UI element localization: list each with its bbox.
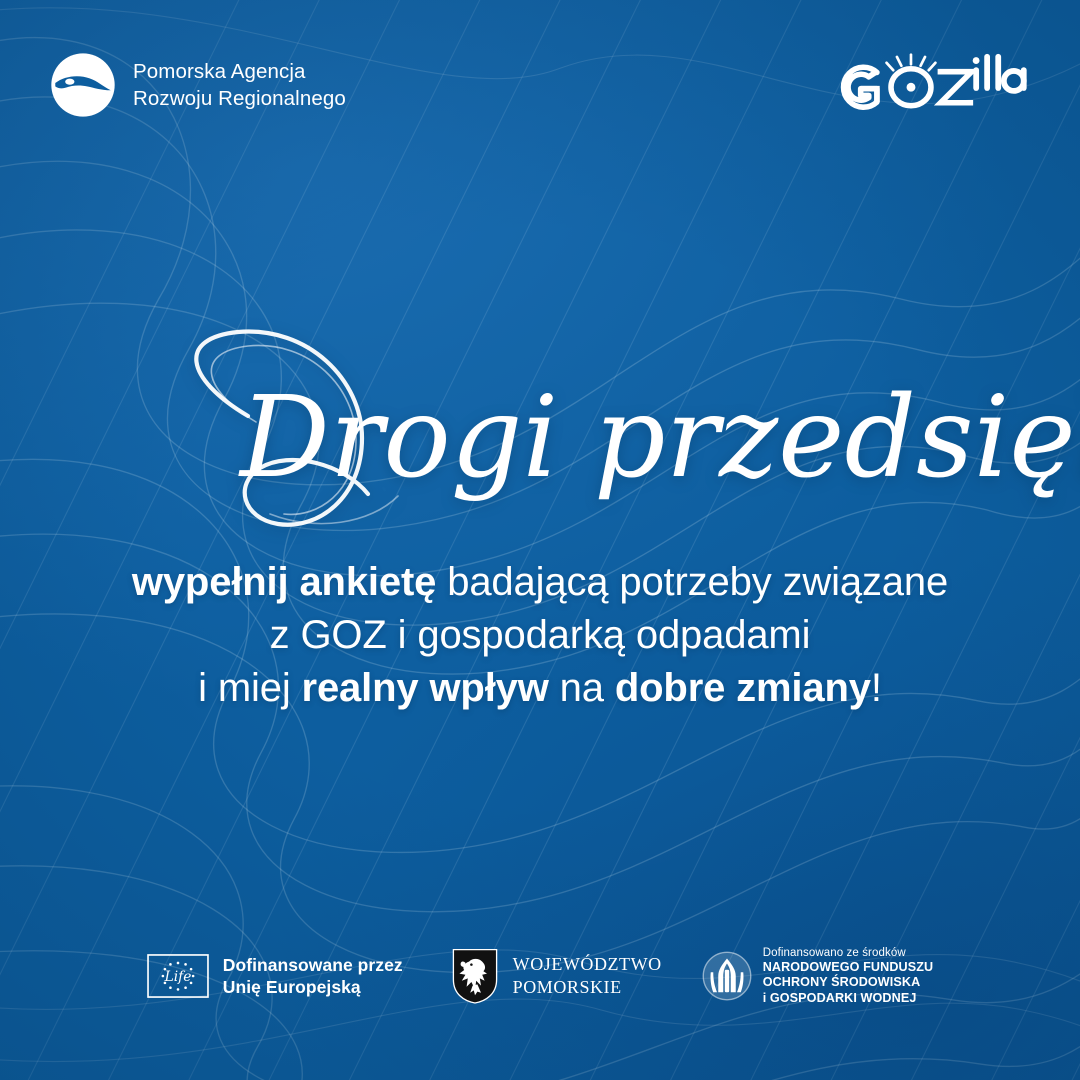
parr-swoosh-mark-icon <box>50 52 116 118</box>
body-line-3-pre: i miej <box>198 666 301 710</box>
footer-logo-bar: Life Dofinansowane przez Unię Europejską… <box>0 936 1080 1016</box>
body-line-3: i miej realny wpływ na dobre zmiany! <box>0 662 1080 715</box>
nfosigw-emblem-icon <box>702 951 752 1001</box>
gozilla-eye-logo-icon[interactable] <box>828 48 1028 122</box>
nfosigw-logo[interactable]: Dofinansowano ze środków NARODOWEGO FUND… <box>702 946 934 1006</box>
nfosigw-label: Dofinansowano ze środków NARODOWEGO FUND… <box>763 946 934 1006</box>
pomorskie-logo[interactable]: WOJEWÓDZTWO POMORSKIE <box>451 947 662 1005</box>
nfosigw-label-line-1: Dofinansowano ze środków <box>763 946 934 960</box>
body-line-1-bold: wypełnij ankietę <box>132 560 436 604</box>
pomorskie-label: WOJEWÓDZTWO POMORSKIE <box>513 953 662 1000</box>
headline-block: Drogi przedsiębiorco <box>0 318 1080 548</box>
eu-funding-label: Dofinansowane przez Unię Europejską <box>223 954 403 999</box>
body-line-1-rest: badającą potrzeby związane <box>436 560 948 604</box>
body-line-3-bold-1: realny wpływ <box>302 666 549 710</box>
poster-header: Pomorska Agencja Rozwoju Regionalnego <box>0 0 1080 170</box>
body-line-1: wypełnij ankietę badającą potrzeby związ… <box>0 556 1080 609</box>
eu-life-flag-icon: Life <box>147 954 209 998</box>
eu-funding-logo[interactable]: Life Dofinansowane przez Unię Europejską <box>147 954 403 999</box>
body-line-3-mid: na <box>549 666 615 710</box>
headline-text: Drogi przedsiębiorco <box>238 373 1080 503</box>
headline-script: Drogi przedsiębiorco <box>130 318 950 548</box>
body-line-3-end: ! <box>871 666 882 710</box>
griffin-shield-icon <box>451 947 499 1005</box>
body-copy: wypełnij ankietę badającą potrzeby związ… <box>0 556 1080 714</box>
parr-logo-text: Pomorska Agencja Rozwoju Regionalnego <box>133 58 346 113</box>
body-line-2: z GOZ i gospodarką odpadami <box>0 609 1080 662</box>
body-line-3-bold-2: dobre zmiany <box>615 666 871 710</box>
nfosigw-label-line-2: NARODOWEGO FUNDUSZU OCHRONY ŚRODOWISKA i… <box>763 960 934 1006</box>
parr-logo[interactable]: Pomorska Agencja Rozwoju Regionalnego <box>50 52 346 118</box>
eu-life-wordmark: Life <box>163 969 191 985</box>
poster-canvas: Pomorska Agencja Rozwoju Regionalnego <box>0 0 1080 1080</box>
